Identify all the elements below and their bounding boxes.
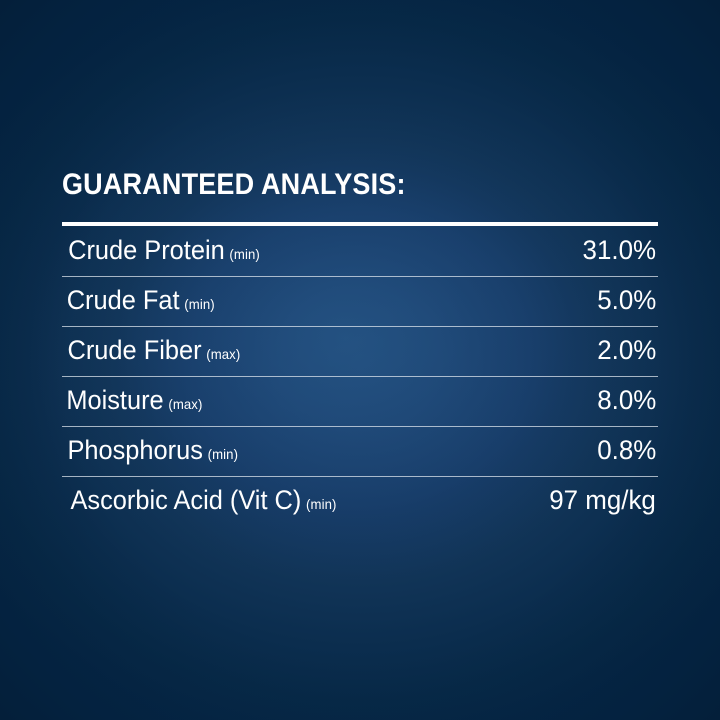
nutrient-table: Crude Protein(min) 31.0% Crude Fat(min) … xyxy=(62,226,658,526)
table-row: Crude Protein(min) 31.0% xyxy=(62,226,658,276)
guaranteed-analysis-panel: GUARANTEED ANALYSIS: Crude Protein(min) … xyxy=(0,0,720,720)
nutrient-name-text: Crude Fat xyxy=(67,285,180,315)
nutrient-label: Crude Fat(min) xyxy=(67,285,215,315)
nutrient-name-text: Moisture xyxy=(66,385,163,415)
nutrient-label: Crude Fiber(max) xyxy=(68,335,241,365)
table-row: Phosphorus(min) 0.8% xyxy=(62,426,658,476)
nutrient-name-text: Ascorbic Acid (Vit C) xyxy=(70,485,301,515)
nutrient-value: 8.0% xyxy=(598,385,657,415)
nutrient-name-text: Phosphorus xyxy=(67,435,202,465)
nutrient-label: Moisture(max) xyxy=(66,385,202,415)
nutrient-name-text: Crude Protein xyxy=(68,235,225,265)
nutrient-qualifier: (max) xyxy=(168,396,202,412)
nutrient-qualifier: (min) xyxy=(184,296,214,312)
nutrient-qualifier: (min) xyxy=(208,446,238,462)
table-row: Ascorbic Acid (Vit C)(min) 97 mg/kg xyxy=(62,476,658,526)
nutrient-qualifier: (min) xyxy=(306,496,336,512)
nutrient-label: Ascorbic Acid (Vit C)(min) xyxy=(70,485,336,515)
nutrient-value: 0.8% xyxy=(598,435,657,465)
page-title: GUARANTEED ANALYSIS: xyxy=(62,168,598,202)
table-row: Crude Fiber(max) 2.0% xyxy=(62,326,658,376)
table-row: Crude Fat(min) 5.0% xyxy=(62,276,658,326)
nutrient-qualifier: (min) xyxy=(229,246,259,262)
analysis-panel: GUARANTEED ANALYSIS: Crude Protein(min) … xyxy=(62,168,658,526)
nutrient-name-text: Crude Fiber xyxy=(68,335,202,365)
table-row: Moisture(max) 8.0% xyxy=(62,376,658,426)
nutrient-label: Crude Protein(min) xyxy=(68,235,260,265)
nutrient-value: 5.0% xyxy=(598,285,657,315)
nutrient-label: Phosphorus(min) xyxy=(67,435,238,465)
nutrient-value: 2.0% xyxy=(598,335,657,365)
nutrient-value: 97 mg/kg xyxy=(549,485,656,515)
nutrient-qualifier: (max) xyxy=(206,346,240,362)
nutrient-value: 31.0% xyxy=(583,235,657,265)
